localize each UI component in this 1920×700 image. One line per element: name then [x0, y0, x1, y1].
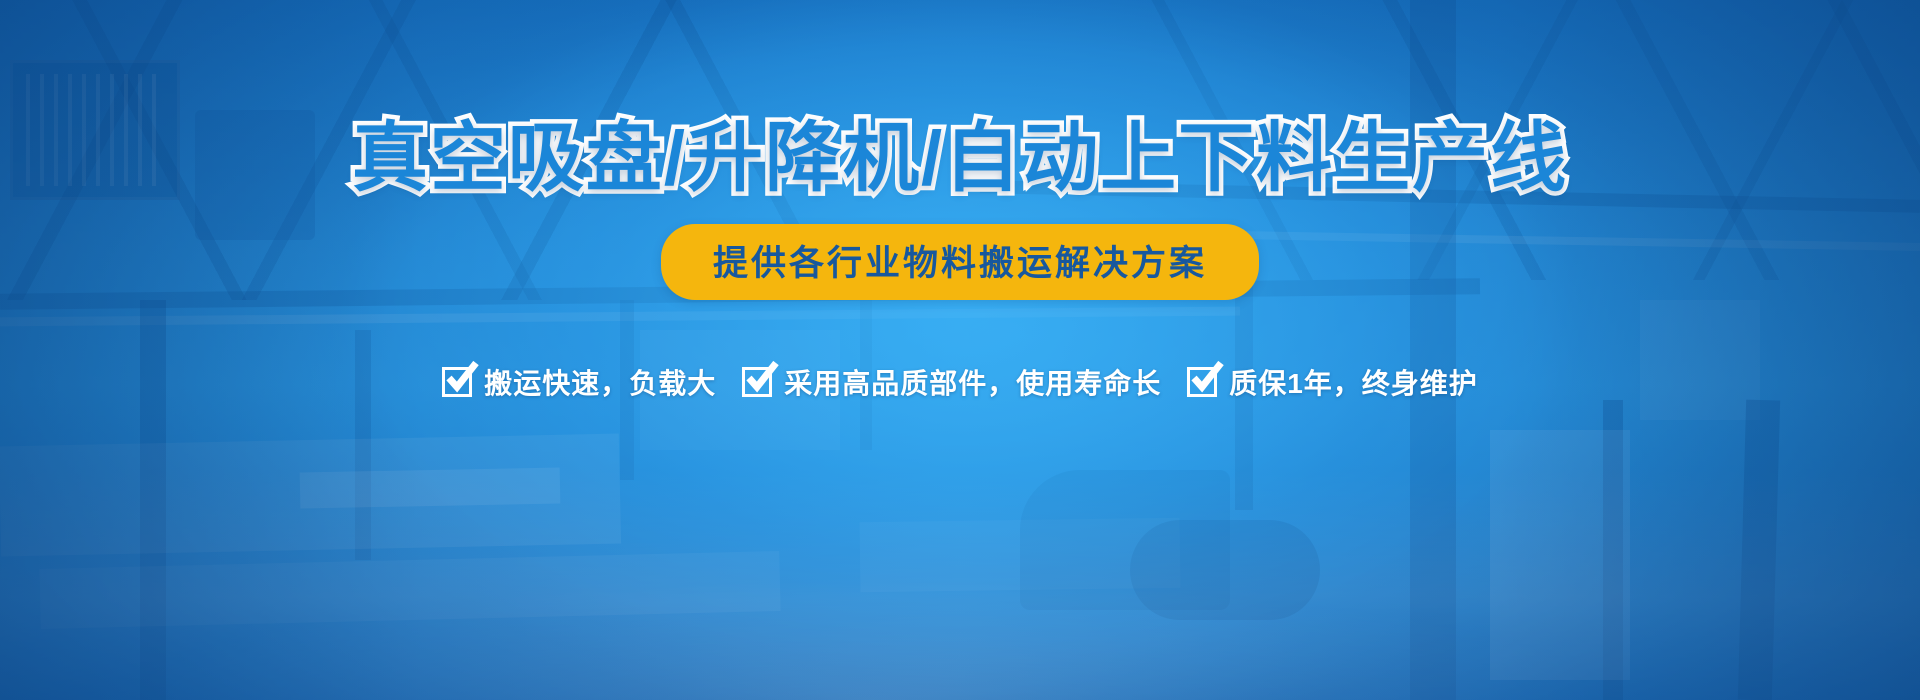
feature-list: 搬运快速，负载大 采用高品质部件，使用寿命长 质保1: [442, 362, 1478, 402]
check-icon: [442, 365, 476, 399]
feature-item-2: 采用高品质部件，使用寿命长: [742, 362, 1161, 402]
promo-banner: 真空吸盘/升降机/自动上下料生产线 提供各行业物料搬运解决方案 搬运快速，负载大: [0, 0, 1920, 700]
banner-title: 真空吸盘/升降机/自动上下料生产线: [352, 118, 1568, 200]
feature-label: 搬运快速，负载大: [484, 362, 716, 402]
banner-subtitle-pill: 提供各行业物料搬运解决方案: [661, 224, 1259, 300]
feature-item-3: 质保1年，终身维护: [1187, 362, 1478, 402]
check-icon: [742, 365, 776, 399]
feature-label: 采用高品质部件，使用寿命长: [784, 362, 1161, 402]
banner-content: 真空吸盘/升降机/自动上下料生产线 提供各行业物料搬运解决方案 搬运快速，负载大: [0, 0, 1920, 700]
check-icon: [1187, 365, 1221, 399]
feature-label: 质保1年，终身维护: [1229, 362, 1478, 402]
feature-item-1: 搬运快速，负载大: [442, 362, 716, 402]
